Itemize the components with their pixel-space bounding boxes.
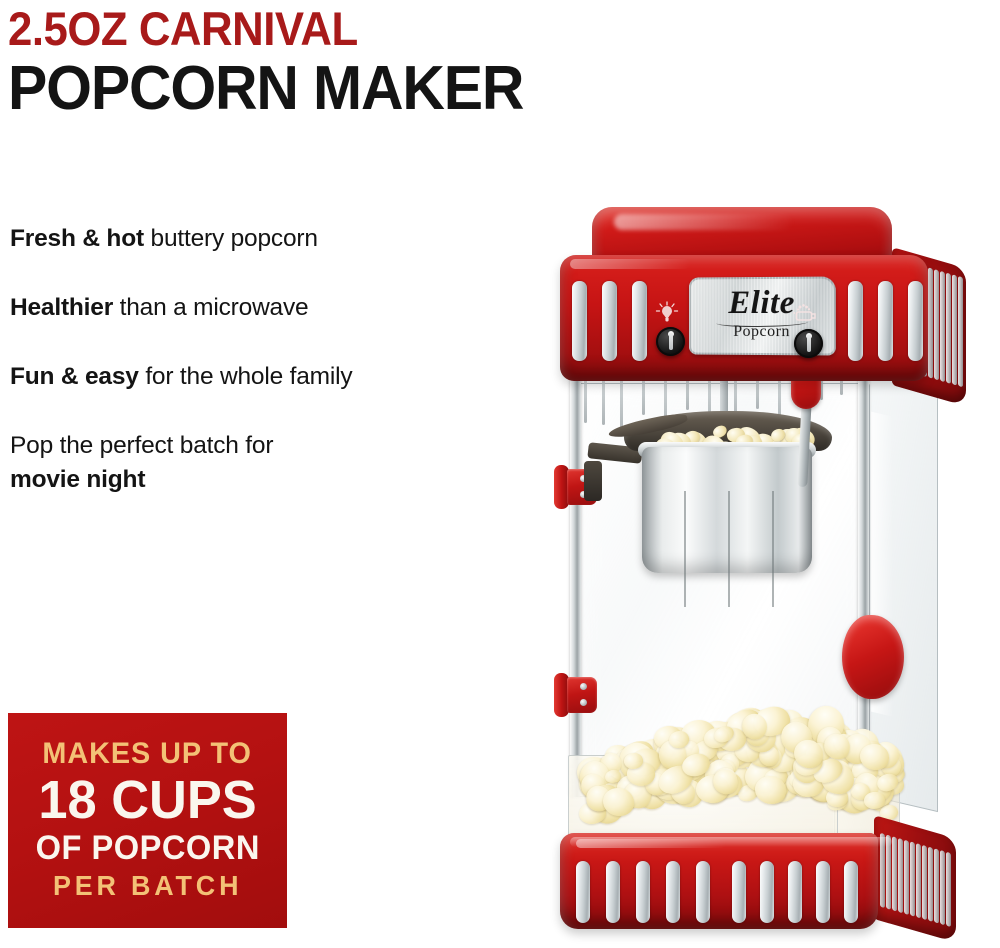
badge-line-of-popcorn: OF POPCORN [35,829,259,867]
feature-item-4: Pop the perfect batch for movie night [10,431,510,495]
feature-item-2-text: than a microwave [113,294,308,321]
headline-subtitle: 2.5OZ CARNIVAL [8,4,678,54]
kettle-switch[interactable] [794,329,823,358]
feature-item-2-bold: Healthier [10,294,113,321]
feature-list: Fresh & hot buttery popcorn Healthier th… [10,224,510,495]
kettle-assembly [628,409,828,599]
hood-body: Elite Popcorn [560,255,928,381]
light-switch[interactable] [656,327,685,356]
popcorn-maker-product-image: Elite Popcorn [520,195,1000,940]
page-title: POPCORN MAKER [8,56,692,122]
machine-base [548,823,958,935]
badge-line-cups: 18 CUPS [38,772,256,828]
base-front-panel [560,833,878,929]
badge-line-per-batch: PER BATCH [53,870,242,902]
feature-item-4-text: Pop the perfect batch for [10,432,273,459]
kettle-body [642,447,812,573]
feature-item-4-bold: movie night [10,465,510,495]
feature-item-1-text: buttery popcorn [144,225,318,252]
capacity-badge: MAKES UP TO 18 CUPS OF POPCORN PER BATCH [8,713,287,928]
feature-item-3: Fun & easy for the whole family [10,362,510,392]
machine-hood: Elite Popcorn [540,207,940,382]
kettle-icon [792,303,818,325]
base-side-panel [874,815,956,943]
headline-block: 2.5OZ CARNIVAL POPCORN MAKER [8,4,728,122]
feature-item-1-bold: Fresh & hot [10,225,144,252]
feature-item-2: Healthier than a microwave [10,293,510,323]
feature-item-1: Fresh & hot buttery popcorn [10,224,510,254]
lightbulb-icon [654,301,680,323]
badge-line-makes-up-to: MAKES UP TO [43,737,253,771]
feature-item-3-bold: Fun & easy [10,363,139,390]
red-scoop-paddle[interactable] [842,615,904,699]
feature-item-3-text: for the whole family [139,363,353,390]
kettle-mount-bracket [584,461,602,501]
